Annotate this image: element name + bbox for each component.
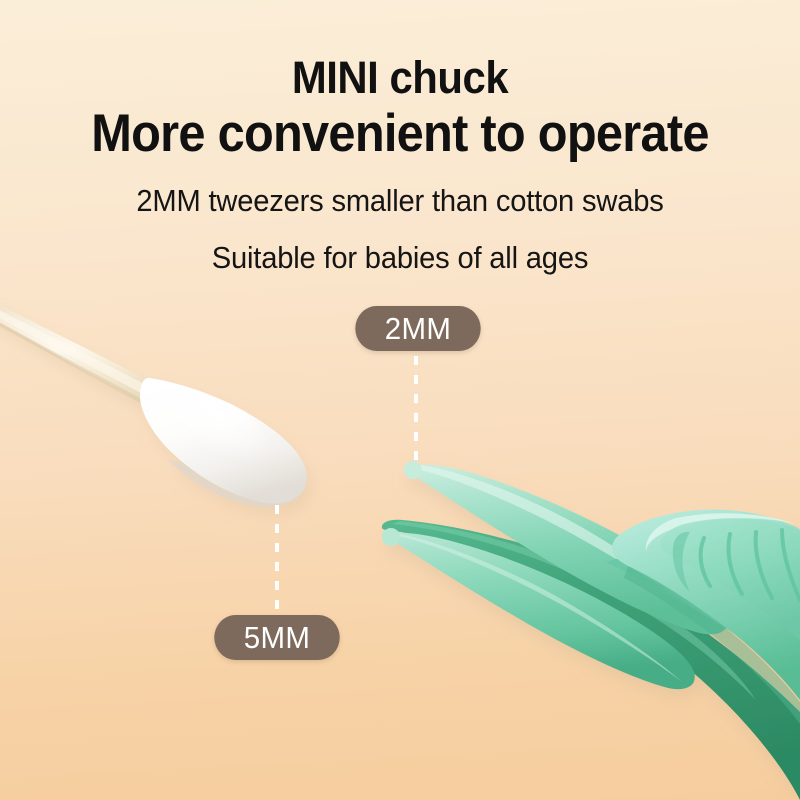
leader-line-5mm [275, 505, 279, 612]
page-title-line-2: More convenient to operate [32, 102, 768, 162]
tweezers-body [382, 461, 800, 800]
product-banner: MINI chuck More convenient to operate 2M… [0, 0, 800, 800]
page-title-line-1: MINI chuck [28, 0, 772, 102]
subheading-line-2: Suitable for babies of all ages [24, 219, 776, 276]
subheading-line-1: 2MM tweezers smaller than cotton swabs [24, 162, 776, 219]
badge-5mm: 5MM [214, 615, 339, 660]
leader-line-2mm [414, 356, 418, 468]
headline-block: MINI chuck More convenient to operate 2M… [0, 0, 800, 276]
badge-2mm: 2MM [355, 306, 480, 351]
